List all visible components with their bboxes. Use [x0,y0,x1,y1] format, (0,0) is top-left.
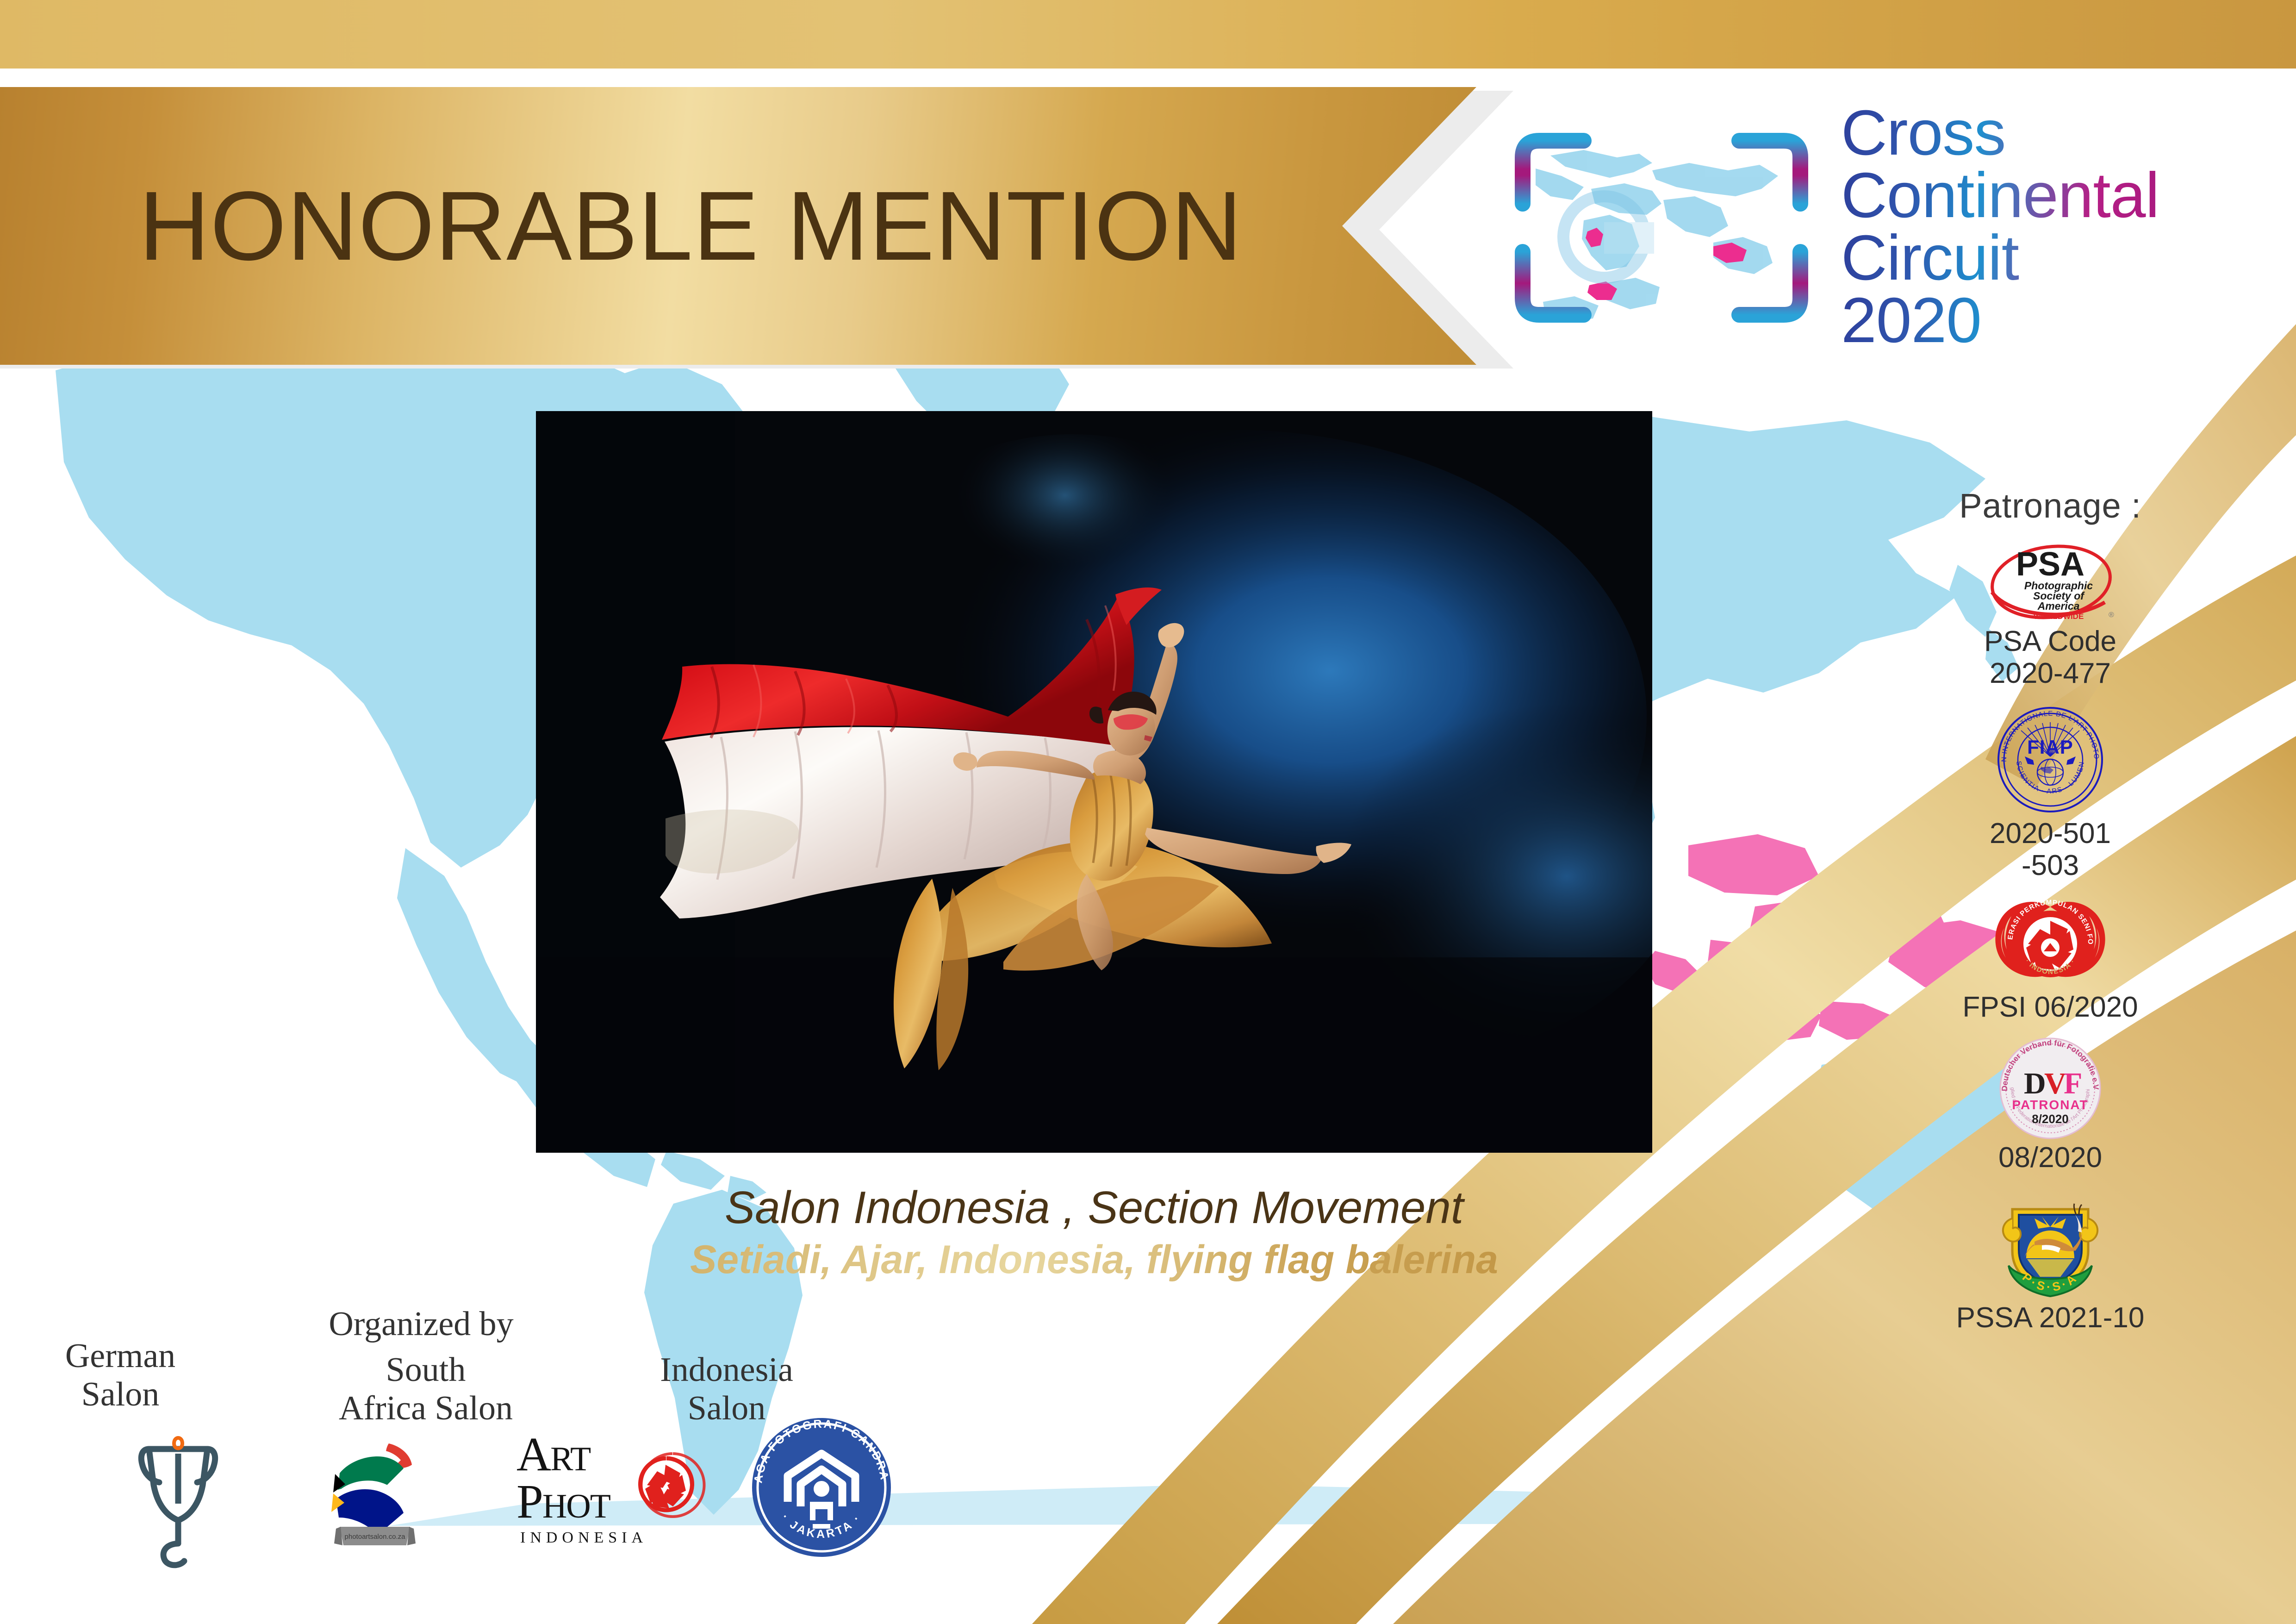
patronage-item-pssa: P·S·S·A PSSA 2021-10 [1921,1186,2180,1334]
german-salon-trophy-icon [125,1430,231,1571]
patronage-item-dvf: Deutscher Verband für Fotografie e.V. Mi… [1921,1035,2180,1174]
logo-line-1: Cross [1841,102,2159,164]
patronage-section: Patronage : PSA Photographic Society of … [1921,486,2180,1334]
candra-naya-seal: LEMBAGA FOTOGRAFI CANDRA NAYA · JAKARTA … [745,1411,898,1566]
photo-author-caption: Setiadi, Ajar, Indonesia, flying flag ba… [536,1237,1652,1283]
svg-text:V: V [2044,1067,2066,1100]
svg-text:®: ® [2109,611,2114,619]
patronage-item-psa: PSA Photographic Society of America WORL… [1921,537,2180,690]
svg-text:PSA: PSA [2016,546,2084,583]
top-gold-strip [0,0,2296,69]
patronage-label-dvf: 08/2020 [1921,1142,2180,1174]
art-photo-indonesia-logo: ART PHOT INDONESIA [514,1425,731,1566]
logo-line-4: 2020 [1841,289,2159,352]
patronage-label-pssa: PSSA 2021-10 [1921,1302,2180,1334]
fiap-logo: FEDERATION INTERNATIONALE DE L'ART PHOTO… [1992,702,2108,818]
svg-text:photoartsalon.co.za: photoartsalon.co.za [345,1533,406,1541]
psa-sub-3: America [2037,600,2080,612]
patronage-label-psa: PSA Code 2020-477 [1921,625,2180,690]
organizer-label-german: German Salon [28,1337,213,1414]
svg-text:8/2020: 8/2020 [2032,1112,2069,1126]
photo-title-caption: Salon Indonesia , Section Movement [536,1181,1652,1234]
fpsi-logo: FEDERASI PERKUMPULAN SENI FOTO · INDONES… [1985,894,2115,991]
svg-text:F: F [2064,1067,2082,1100]
patronage-label-fiap: 2020-501 -503 [1921,818,2180,882]
psa-logo: PSA Photographic Society of America WORL… [1981,537,2120,625]
pssa-logo: P·S·S·A [1990,1186,2110,1302]
patronage-heading: Patronage : [1921,486,2180,525]
page-title: HONORABLE MENTION [139,177,1243,275]
south-africa-flag-shield-icon: photoartsalon.co.za [319,1434,430,1566]
certificate-canvas: HONORABLE MENTION [0,0,2296,1624]
organizer-label-south-africa: South Africa Salon [296,1351,555,1428]
psa-sub-4: WORLDWIDE [2034,612,2084,621]
organizer-german-salon: German Salon [28,1337,213,1414]
svg-text:ART: ART [516,1428,591,1481]
svg-text:PATRONAT: PATRONAT [2012,1098,2088,1112]
svg-text:INDONESIA: INDONESIA [520,1529,647,1546]
award-banner: HONORABLE MENTION [0,87,1476,365]
organizer-logos-row: photoartsalon.co.za ART PHOT [106,1425,940,1578]
patronage-item-fiap: FEDERATION INTERNATIONALE DE L'ART PHOTO… [1921,702,2180,882]
logo-wordmark: Cross Continental Circuit 2020 [1841,102,2159,352]
organized-by-heading: Organized by [315,1305,528,1344]
patronage-label-fpsi: FPSI 06/2020 [1921,991,2180,1023]
cross-continental-circuit-logo: Cross Continental Circuit 2020 [1495,106,2272,347]
organizer-south-africa-salon: South Africa Salon [296,1351,555,1428]
dvf-logo: Deutscher Verband für Fotografie e.V. Mi… [1997,1035,2103,1142]
svg-text:D: D [2024,1067,2046,1100]
camera-bracket-globe-icon [1495,111,1828,343]
svg-text:PHOT: PHOT [516,1475,610,1528]
awarded-photograph [536,411,1652,1153]
logo-line-2: Continental [1841,164,2159,227]
svg-text:SCIENTIA · ARS · LUMEN: SCIENTIA · ARS · LUMEN [2015,761,2086,795]
svg-text:FIAP: FIAP [2027,736,2073,758]
logo-line-3: Circuit [1841,227,2159,289]
patronage-item-fpsi: FEDERASI PERKUMPULAN SENI FOTO · INDONES… [1921,894,2180,1023]
